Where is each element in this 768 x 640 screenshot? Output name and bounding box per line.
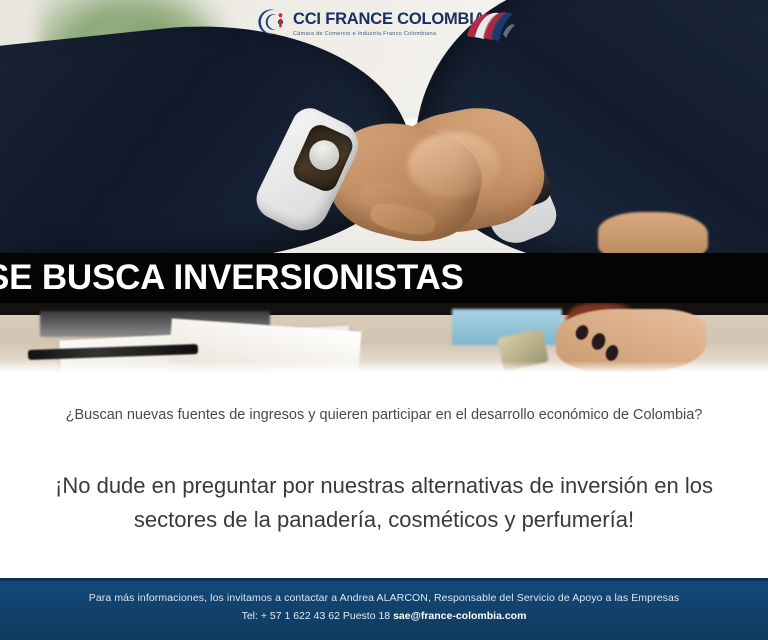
headline-text: SE BUSCA INVERSIONISTAS: [0, 258, 464, 298]
knuckles-highlight: [408, 132, 500, 198]
watch-face: [304, 135, 344, 175]
claim-text: ¡No dude en preguntar por nuestras alter…: [28, 469, 740, 537]
footer-email[interactable]: sae@france-colombia.com: [393, 610, 526, 622]
poster: CCI FRANCE COLOMBIA Cámara de Comercio e…: [0, 0, 768, 640]
footer-phone-email-line: Tel: + 57 1 622 43 62 Puesto 18 sae@fran…: [20, 610, 748, 622]
cci-circle-logo-icon: [253, 7, 289, 37]
french-flag-swoosh-icon: [461, 6, 519, 48]
body-section: ¿Buscan nuevas fuentes de ingresos y qui…: [0, 373, 768, 578]
question-text: ¿Buscan nuevas fuentes de ingresos y qui…: [38, 403, 730, 427]
handshake-photo: CCI FRANCE COLOMBIA Cámara de Comercio e…: [0, 0, 768, 253]
headline-band: SE BUSCA INVERSIONISTAS: [0, 253, 768, 303]
footer-top-rule: [0, 578, 768, 581]
photo-bottom-fade: [0, 361, 768, 373]
contact-footer: Para más informaciones, los invitamos a …: [0, 578, 768, 640]
footer-phone: Tel: + 57 1 622 43 62 Puesto 18: [242, 610, 394, 622]
logo-subtitle-text: Cámara de Comercio e Industria Franco Co…: [293, 31, 436, 37]
desk-documents-photo: [0, 303, 768, 373]
background-hand: [598, 212, 708, 253]
cci-france-colombia-logo: CCI FRANCE COLOMBIA Cámara de Comercio e…: [253, 6, 521, 48]
footer-contact-line: Para más informaciones, los invitamos a …: [20, 592, 748, 604]
logo-brand-text: CCI FRANCE COLOMBIA: [293, 10, 485, 29]
